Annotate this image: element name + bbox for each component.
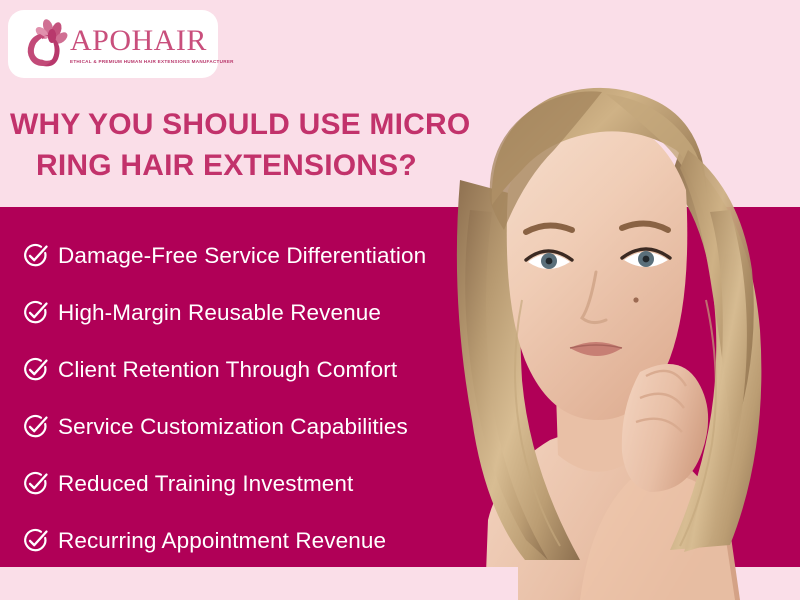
page-title: WHY YOU SHOULD USE MICRO RING HAIR EXTEN…	[10, 104, 530, 187]
list-item-label: High-Margin Reusable Revenue	[58, 300, 381, 326]
check-circle-icon	[22, 356, 49, 383]
logo-tagline: ETHICAL & PREMIUM HUMAN HAIR EXTENSIONS …	[70, 60, 234, 65]
list-item-label: Client Retention Through Comfort	[58, 357, 397, 383]
list-item-label: Reduced Training Investment	[58, 471, 353, 497]
list-item-label: Recurring Appointment Revenue	[58, 528, 386, 554]
list-item: Reduced Training Investment	[0, 455, 520, 512]
list-item: Client Retention Through Comfort	[0, 341, 520, 398]
list-item: Damage-Free Service Differentiation	[0, 227, 520, 284]
logo-badge[interactable]: APOHAIR ETHICAL & PREMIUM HUMAN HAIR EXT…	[8, 10, 218, 78]
list-item-label: Damage-Free Service Differentiation	[58, 243, 426, 269]
headline-line-1: WHY YOU SHOULD USE MICRO	[10, 104, 530, 145]
check-circle-icon	[22, 470, 49, 497]
list-item: Recurring Appointment Revenue	[0, 512, 520, 569]
benefits-list: Damage-Free Service Differentiation High…	[0, 207, 520, 567]
logo-text-group: APOHAIR ETHICAL & PREMIUM HUMAN HAIR EXT…	[70, 26, 234, 65]
check-circle-icon	[22, 527, 49, 554]
list-item: High-Margin Reusable Revenue	[0, 284, 520, 341]
bottom-strip	[0, 567, 518, 600]
check-circle-icon	[22, 413, 49, 440]
list-item: Service Customization Capabilities	[0, 398, 520, 455]
infographic-canvas: APOHAIR ETHICAL & PREMIUM HUMAN HAIR EXT…	[0, 0, 800, 600]
check-circle-icon	[22, 299, 49, 326]
woman-silhouette-flower-icon	[18, 18, 68, 70]
logo-wordmark: APOHAIR	[70, 26, 234, 56]
headline-line-2: RING HAIR EXTENSIONS?	[10, 145, 530, 186]
list-item-label: Service Customization Capabilities	[58, 414, 408, 440]
check-circle-icon	[22, 242, 49, 269]
